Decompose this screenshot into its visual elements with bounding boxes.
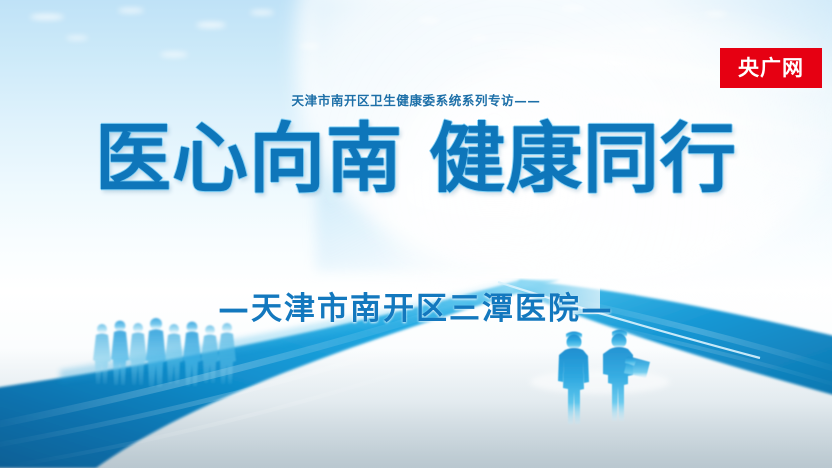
cloud-wisp <box>250 10 274 15</box>
cloud-wisp <box>66 36 88 40</box>
cloud-wisp <box>560 6 586 11</box>
cnr-logo[interactable]: 央广网 <box>720 48 822 88</box>
medical-staff-crowd-silhouette <box>88 316 248 412</box>
crowd-figure <box>165 324 183 384</box>
doctors-silhouette-svg <box>540 326 656 438</box>
doctor-pair-silhouette <box>540 326 656 438</box>
cloud-wisp <box>418 18 440 23</box>
crowd-figure <box>201 325 219 383</box>
cloud-wisp <box>118 8 144 13</box>
crowd-figure <box>129 323 147 385</box>
subtitle-text: —天津市南开区三潭医院— <box>0 283 832 328</box>
cloud-wisp <box>470 36 488 40</box>
cloud-wisp <box>196 22 226 28</box>
title-part-2: 健康同行 <box>429 114 737 203</box>
cloud-wisp <box>300 44 320 48</box>
cloud-wisp <box>30 14 64 20</box>
doctor-figure-left <box>558 332 589 425</box>
title-part-1: 医心向南 <box>95 114 403 203</box>
doctor-figure-right <box>603 330 650 422</box>
cloud-wisp <box>640 28 660 32</box>
cloud-wisp <box>705 12 727 16</box>
cloud-wisp <box>160 52 188 57</box>
cnr-logo-text: 央广网 <box>738 58 804 79</box>
crowd-figure <box>218 323 236 384</box>
banner-canvas: 央广网 天津市南开区卫生健康委系统系列专访—— 医心向南健康同行 —天津市南开区… <box>0 0 832 468</box>
page-title: 医心向南健康同行 <box>0 118 832 200</box>
crowd-figure <box>183 322 201 386</box>
crowd-silhouette-svg <box>88 316 248 412</box>
eyebrow-text: 天津市南开区卫生健康委系统系列专访—— <box>0 90 832 109</box>
crowd-figure <box>111 321 129 385</box>
crowd-figure <box>93 324 111 384</box>
crowd-figure <box>146 318 166 387</box>
